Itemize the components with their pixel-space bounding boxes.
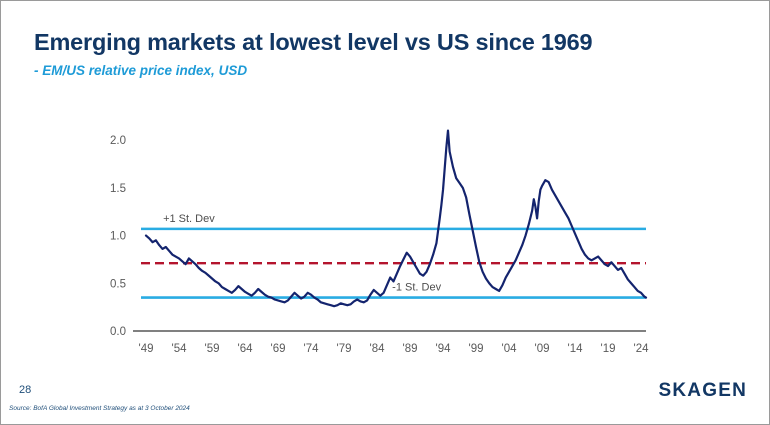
x-tick-label: '64 xyxy=(238,343,254,355)
x-tick-label: '49 xyxy=(139,343,154,355)
x-tick-label: '74 xyxy=(304,343,320,355)
x-tick-label: '59 xyxy=(205,343,220,355)
x-axis-tick-labels: '49'54'59'64'69'74'79'84'89'94'99'04'09'… xyxy=(139,343,650,355)
x-tick-label: '19 xyxy=(601,343,616,355)
chart-annotations: +1 St. Dev-1 St. Dev xyxy=(163,213,442,294)
x-tick-label: '94 xyxy=(436,343,452,355)
y-tick-label: 1.5 xyxy=(110,183,126,195)
relative-price-index-chart: 0.00.51.01.52.0 '49'54'59'64'69'74'79'84… xyxy=(1,96,770,371)
x-tick-label: '69 xyxy=(271,343,286,355)
y-tick-label: 0.0 xyxy=(110,326,126,338)
y-tick-label: 0.5 xyxy=(110,278,126,290)
y-tick-label: 1.0 xyxy=(110,231,126,243)
slide-subtitle: - EM/US relative price index, USD xyxy=(34,63,247,78)
x-tick-label: '84 xyxy=(370,343,386,355)
presentation-slide: Emerging markets at lowest level vs US s… xyxy=(0,0,770,425)
x-tick-label: '24 xyxy=(634,343,650,355)
x-tick-label: '54 xyxy=(172,343,188,355)
x-tick-label: '79 xyxy=(337,343,352,355)
series-lines-group xyxy=(146,131,646,307)
y-axis-tick-labels: 0.00.51.01.52.0 xyxy=(110,135,126,338)
annotation-label: -1 St. Dev xyxy=(392,282,441,294)
x-tick-label: '04 xyxy=(502,343,518,355)
page-number: 28 xyxy=(19,384,31,396)
data-series-line-0 xyxy=(146,131,646,307)
x-tick-label: '09 xyxy=(535,343,550,355)
slide-title: Emerging markets at lowest level vs US s… xyxy=(34,29,592,56)
x-tick-label: '14 xyxy=(568,343,584,355)
y-tick-label: 2.0 xyxy=(110,135,126,147)
x-tick-label: '99 xyxy=(469,343,484,355)
x-tick-label: '89 xyxy=(403,343,418,355)
skagen-logo: SKAGEN xyxy=(659,380,748,402)
source-note: Source: BofA Global Investment Strategy … xyxy=(9,405,190,412)
chart-canvas: 0.00.51.01.52.0 '49'54'59'64'69'74'79'84… xyxy=(1,96,770,371)
annotation-label: +1 St. Dev xyxy=(163,213,215,225)
